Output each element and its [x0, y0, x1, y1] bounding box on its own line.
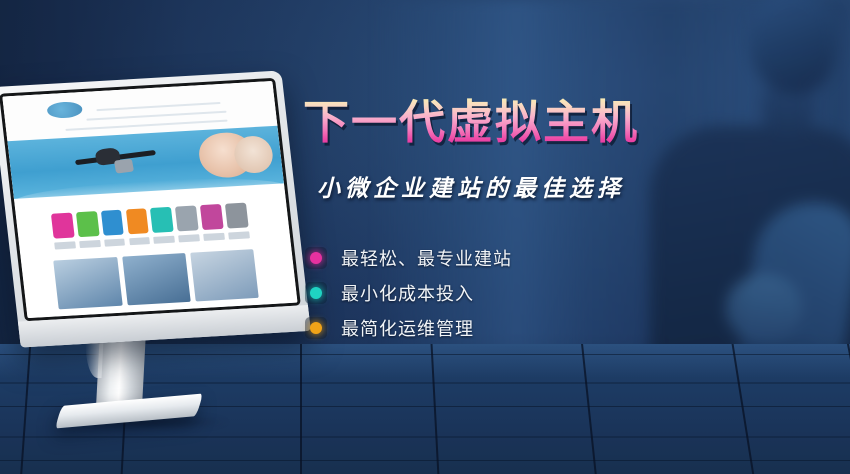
monitor-body-wrapper: [0, 70, 311, 347]
caption-line: [178, 235, 199, 243]
website-preview: [2, 81, 297, 318]
list-item: 最轻松、最专业建站: [305, 241, 723, 276]
app-icon: [175, 206, 199, 232]
dot-icon-inner: [310, 252, 322, 264]
list-item: 最简化运维管理: [305, 311, 723, 346]
floor-line: [0, 436, 850, 438]
feature-label: 最简化运维管理: [341, 315, 474, 341]
banner-stage: 下一代虚拟主机 小微企业建站的最佳选择 最轻松、最专业建站 最小化成本投入 最简…: [0, 0, 850, 474]
photo-tile: [190, 249, 259, 301]
website-photo-row: [54, 249, 259, 309]
caption-line: [79, 240, 100, 248]
caption-line: [54, 242, 75, 250]
banner-title: 下一代虚拟主机: [303, 98, 723, 147]
airplane-icon: [73, 139, 158, 179]
caption-line: [154, 236, 175, 244]
imac-monitor-icon: [6, 78, 306, 418]
banner-subtitle: 小微企业建站的最佳选择: [317, 169, 723, 203]
feature-label: 最小化成本投入: [341, 280, 474, 306]
app-icon: [150, 207, 174, 233]
app-icon: [51, 213, 75, 239]
photo-tile: [122, 253, 191, 305]
floor-line: [0, 460, 850, 461]
app-icon: [76, 212, 100, 238]
monitor-bezel: [0, 78, 301, 321]
caption-line: [104, 239, 125, 247]
dot-icon-inner: [310, 287, 322, 299]
list-item: 最小化成本投入: [305, 276, 723, 311]
app-icon: [125, 209, 149, 235]
dot-icon: [305, 317, 327, 339]
banner-text-content: 下一代虚拟主机 小微企业建站的最佳选择 最轻松、最专业建站 最小化成本投入 最简…: [303, 98, 723, 346]
feature-label: 最轻松、最专业建站: [341, 245, 512, 271]
monitor-body: [0, 70, 311, 347]
caption-line: [129, 237, 150, 245]
dot-icon: [305, 247, 327, 269]
dot-icon: [305, 282, 327, 304]
app-icon: [101, 210, 125, 236]
website-hero-wave: [13, 174, 284, 202]
airplane-tail: [114, 158, 134, 173]
app-icon: [200, 204, 224, 230]
caption-line: [203, 233, 224, 241]
dot-icon-inner: [310, 322, 322, 334]
app-icon: [225, 203, 249, 229]
monitor-screen: [2, 81, 297, 318]
caption-line: [228, 232, 249, 240]
feature-list: 最轻松、最专业建站 最小化成本投入 最简化运维管理: [305, 241, 723, 346]
photo-tile: [54, 257, 123, 309]
